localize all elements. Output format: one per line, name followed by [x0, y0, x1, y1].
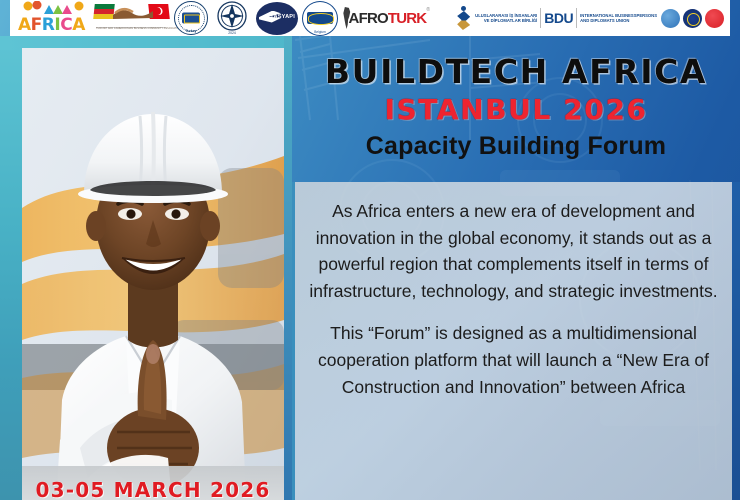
- afroturk-word2: TURK: [388, 10, 426, 27]
- worker-photo: [22, 48, 284, 500]
- africa-logo: AFRICA: [16, 1, 90, 35]
- photo-column: 03-05 MARCH 2026 TASYAPI: [0, 36, 288, 500]
- event-dates: 03-05 MARCH 2026: [36, 478, 271, 500]
- handshake-caption: TURKISH AND CAMEROONIAN BUSINESS COMMUNI…: [96, 28, 166, 31]
- afroturk-logo: AFRO TURK ®: [342, 3, 430, 33]
- bdu-divider: [540, 8, 541, 28]
- event-subtitle: Capacity Building Forum: [292, 132, 740, 161]
- event-title-location-year: ISTANBUL 2026: [292, 96, 740, 124]
- eu-seal-caption: Belgium: [303, 30, 337, 34]
- belgium-eu-seal: Belgium: [302, 1, 338, 36]
- tasyapi-wordmark: TASYAPI: [270, 14, 295, 20]
- bdu-logo: ULUSLARARASI İŞ İNSANLARI VE DİPLOMATLAR…: [456, 3, 657, 33]
- flag-badge-1: [661, 9, 680, 28]
- bdu-emblem-icon: [456, 5, 472, 31]
- teal-left-border: [0, 36, 24, 500]
- description-panel: As Africa enters a new era of developmen…: [292, 182, 732, 500]
- member-flag-badges: [661, 1, 724, 35]
- flag-badge-2: [683, 9, 702, 28]
- date-venue-plate: 03-05 MARCH 2026 TASYAPI: [22, 466, 284, 500]
- event-title-main: BUILDTECH AFRICA: [292, 55, 740, 88]
- photo-right-border: [284, 36, 292, 500]
- content-column: BUILDTECH AFRICA ISTANBUL 2026 Capacity …: [292, 36, 740, 500]
- tasyapi-logo: TASYAPI: [256, 2, 298, 35]
- compass-seal-logo: 2024: [212, 1, 252, 35]
- turkey-cameroon-handshake-logo: TURKISH AND CAMEROONIAN BUSINESS COMMUNI…: [94, 2, 170, 35]
- event-poster: AFRICA TURKISH AND CAMEROONIAN BUSINESS …: [0, 0, 740, 500]
- panel-right-accent: [732, 182, 740, 500]
- bdu-divider-2: [576, 8, 577, 28]
- afroturk-trademark: ®: [426, 7, 430, 13]
- turkey-chamber-seal: Turkey: [174, 1, 208, 35]
- africa-wordmark: AFRICA: [18, 17, 85, 34]
- bdu-english-line2: AND DIPLOMATS UNION: [580, 18, 657, 23]
- bdu-wordmark: BDU: [544, 10, 573, 26]
- description-paragraph-1: As Africa enters a new era of developmen…: [309, 198, 718, 304]
- compass-seal-caption: 2024: [212, 31, 252, 35]
- sponsor-logo-bar: AFRICA TURKISH AND CAMEROONIAN BUSINESS …: [10, 0, 730, 36]
- turkey-seal-caption: Turkey: [175, 29, 207, 33]
- afroturk-word1: AFRO: [349, 10, 388, 27]
- bdu-turkish-line2: VE DİPLOMATLAR BİRLİĞİ: [475, 18, 537, 23]
- description-paragraph-2: This “Forum” is designed as a multidimen…: [309, 320, 718, 400]
- flag-badge-3: [705, 9, 724, 28]
